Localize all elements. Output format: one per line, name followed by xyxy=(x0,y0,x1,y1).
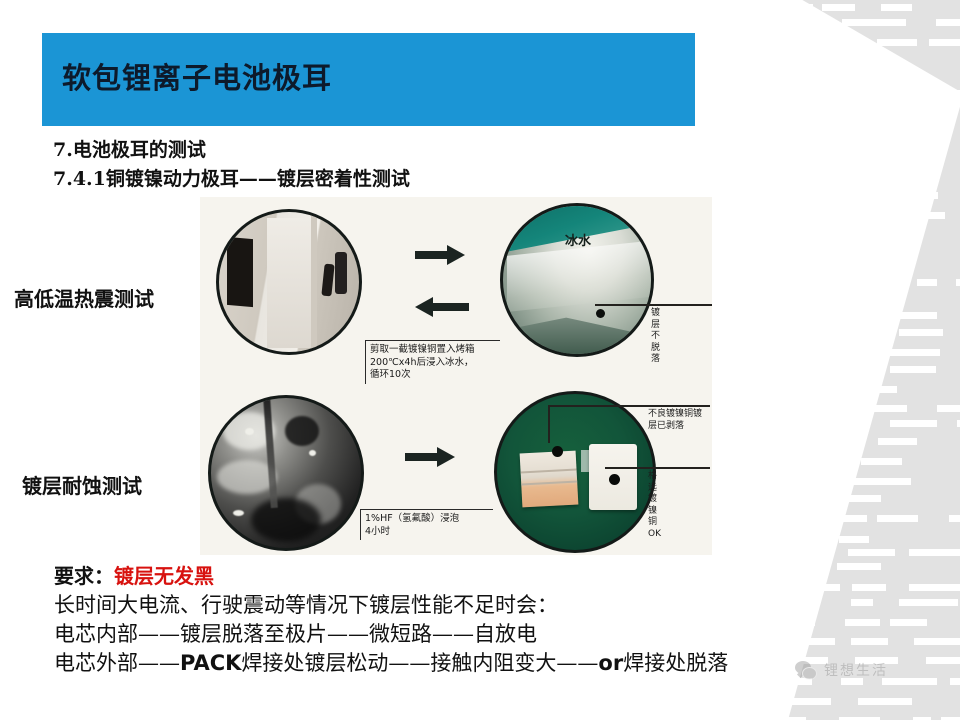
callout-coating-intact-text: 镀层不脱落 xyxy=(651,308,660,366)
oven-handle-secondary xyxy=(335,252,347,294)
ice-water-label: 冰水 xyxy=(565,230,591,249)
requirement-value: 镀层无发黑 xyxy=(114,564,214,588)
sample-defective xyxy=(520,451,579,508)
requirement-line: 要求：镀层无发黑 xyxy=(54,562,728,591)
green-board-photo xyxy=(494,391,656,553)
oven-door-dark xyxy=(227,237,253,307)
ice-sheen xyxy=(507,240,654,312)
figure-panel: 冰水 镀层不脱落 剪取一截镀镍铜置入烤箱 200℃x4h后浸入冰水， 循环10次 xyxy=(200,197,712,555)
conclusion-external-pack: PACK xyxy=(180,651,241,675)
conclusion-external-or: or xyxy=(598,651,623,675)
oven-strip xyxy=(311,214,317,352)
caption-thermal-shock: 剪取一截镀镍铜置入烤箱 200℃x4h后浸入冰水， 循环10次 xyxy=(365,340,500,384)
conclusion-external: 电芯外部——PACK焊接处镀层松动——接触内阻变大——or焊接处脱落 xyxy=(54,649,728,678)
conclusion-internal: 电芯内部——镀层脱落至极片——微短路——自放电 xyxy=(54,620,728,649)
page-title: 软包锂离子电池极耳 xyxy=(62,55,332,97)
arrow-right-icon xyxy=(415,245,471,265)
figure-row-thermal-shock: 冰水 镀层不脱落 剪取一截镀镍铜置入烤箱 200℃x4h后浸入冰水， 循环10次 xyxy=(200,197,712,387)
arrow-left-icon xyxy=(415,297,471,317)
arrow-right-icon-bottom xyxy=(405,447,461,467)
watermark-text: 锂想生活 xyxy=(824,660,888,680)
conclusion-external-e: 焊接处脱落 xyxy=(623,651,728,675)
conclusion-external-c: 焊接处镀层松动——接触内阻变大—— xyxy=(241,651,598,675)
hf-spark-3 xyxy=(233,510,244,516)
conclusion-external-a: 电芯外部—— xyxy=(54,651,180,675)
heading-section: 7.电池极耳的测试 xyxy=(53,136,410,165)
requirement-label: 要求： xyxy=(54,564,114,588)
hf-blob-5 xyxy=(251,498,321,542)
callout-dot-defective xyxy=(552,446,563,457)
hf-spark-2 xyxy=(309,450,316,456)
title-banner: 软包锂离子电池极耳 xyxy=(42,33,695,126)
oven-photo xyxy=(216,209,362,355)
hf-spark-1 xyxy=(245,428,254,435)
conclusion-block: 要求：镀层无发黑 长时间大电流、行驶震动等情况下镀层性能不足时会： 电芯内部——… xyxy=(54,562,728,678)
chevron-wedge xyxy=(770,0,960,720)
callout-dot-ok xyxy=(609,474,620,485)
hf-acid-photo xyxy=(208,395,364,551)
callout-coating-ok-text: 格远镀镍铜OK xyxy=(648,471,661,540)
watermark: 锂想生活 xyxy=(795,660,888,680)
hf-pour-stream xyxy=(263,398,278,508)
ice-callout-dot xyxy=(596,309,605,318)
hf-blob-2 xyxy=(285,416,319,446)
heading-block: 7.电池极耳的测试 7.4.1铜镀镍动力极耳——镀层密着性测试 xyxy=(53,136,410,194)
oven-handle xyxy=(321,264,334,297)
heading-subsection: 7.4.1铜镀镍动力极耳——镀层密着性测试 xyxy=(53,165,410,194)
ice-water-photo: 冰水 xyxy=(500,203,654,357)
slide-root: 软包锂离子电池极耳 7.电池极耳的测试 7.4.1铜镀镍动力极耳——镀层密着性测… xyxy=(0,0,960,720)
caption-corrosion: 1%HF（氢氟酸）浸泡 4小时 xyxy=(360,509,493,540)
callout-coating-peeled-text: 不良镀镍铜镀 层已剥落 xyxy=(648,409,714,432)
ice-bottom-fold xyxy=(500,308,654,356)
figure-row-corrosion: 不良镀镍铜镀 层已剥落 格远镀镍铜OK 1%HF（氢氟酸）浸泡 4小时 xyxy=(200,387,712,555)
chevron-decoration xyxy=(770,0,960,720)
chevron-stripes xyxy=(770,0,960,720)
row-label-corrosion: 镀层耐蚀测试 xyxy=(22,470,142,499)
row-label-thermal-shock: 高低温热震测试 xyxy=(14,283,154,312)
conclusion-intro: 长时间大电流、行驶震动等情况下镀层性能不足时会： xyxy=(54,591,728,620)
oven-panel xyxy=(267,218,311,348)
wechat-icon xyxy=(795,661,817,680)
